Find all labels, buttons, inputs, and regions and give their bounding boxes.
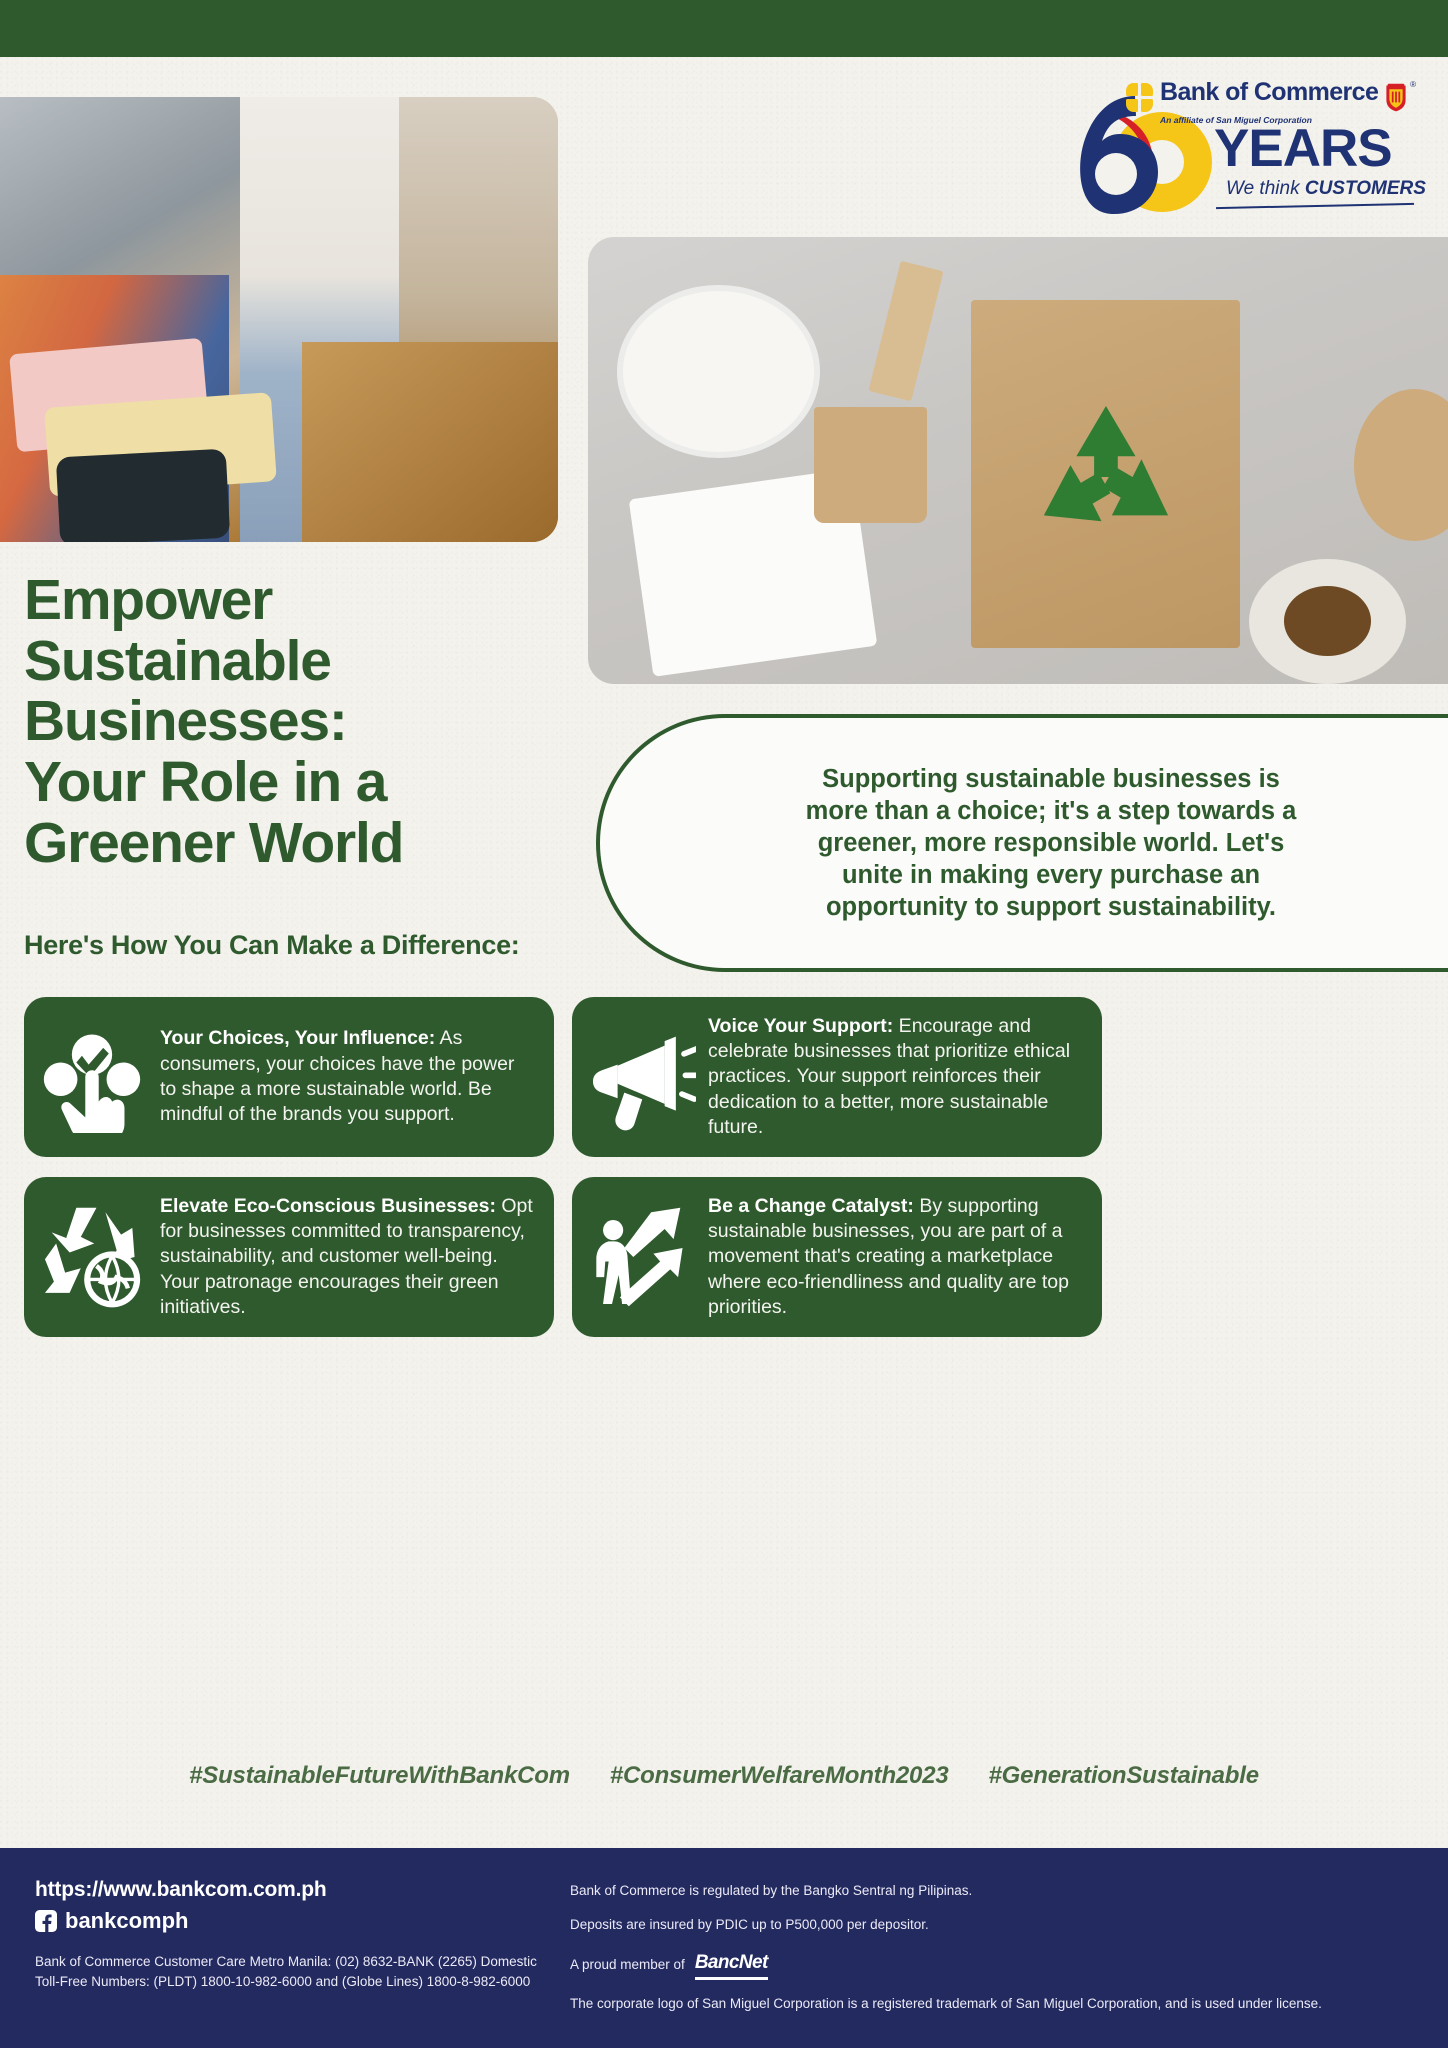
tip-card: Voice Your Support: Encourage and celebr…	[572, 997, 1102, 1157]
bank-name-text: Bank of Commerce	[1160, 80, 1378, 105]
headline-line: Empower	[24, 568, 272, 632]
footer-contact-column: https://www.bankcom.com.ph bankcomph Ban…	[0, 1848, 560, 2048]
footer-legal-column: Bank of Commerce is regulated by the Ban…	[560, 1848, 1448, 2048]
tip-card-title: Elevate Eco-Conscious Businesses:	[160, 1195, 496, 1217]
hashtag-row: #SustainableFutureWithBankCom #ConsumerW…	[0, 1762, 1448, 1790]
subheading: Here's How You Can Make a Difference:	[24, 930, 519, 961]
tip-card-text: Be a Change Catalyst: By supporting sust…	[708, 1194, 1084, 1321]
callout-panel: Supporting sustainable businesses is mor…	[596, 714, 1448, 972]
san-miguel-crest-icon	[1384, 82, 1408, 112]
bancnet-row: A proud member of BancNet	[570, 1950, 1408, 1981]
bank-of-commerce-60-years-logo: Bank of Commerce An affiliate of San Mig…	[1040, 72, 1420, 217]
secondhand-market-photo	[0, 97, 558, 542]
member-label: A proud member of	[570, 1956, 685, 1975]
headline-line: Greener World	[24, 811, 403, 875]
tagline: We think CUSTOMERS	[1226, 178, 1426, 200]
registered-mark: ®	[1410, 80, 1416, 89]
bancnet-logo: BancNet	[695, 1950, 768, 1981]
tip-card-text: Elevate Eco-Conscious Businesses: Opt fo…	[160, 1194, 536, 1321]
tagline-emphasis: CUSTOMERS	[1305, 178, 1426, 199]
tip-card: Elevate Eco-Conscious Businesses: Opt fo…	[24, 1177, 554, 1337]
tip-card-title: Be a Change Catalyst:	[708, 1195, 914, 1217]
recycle-symbol-icon	[1032, 398, 1180, 550]
page-title: Empower Sustainable Businesses: Your Rol…	[24, 570, 584, 874]
recycle-globe-icon	[36, 1201, 148, 1313]
hashtag: #GenerationSustainable	[989, 1762, 1259, 1790]
customer-care-text: Bank of Commerce Customer Care Metro Man…	[35, 1952, 560, 1991]
facebook-icon	[35, 1910, 57, 1932]
facebook-link[interactable]: bankcomph	[35, 1908, 560, 1934]
pdic-note: Deposits are insured by PDIC up to P500,…	[570, 1916, 1408, 1935]
tip-card-title: Your Choices, Your Influence:	[160, 1027, 435, 1049]
callout-text: Supporting sustainable businesses is mor…	[801, 763, 1301, 924]
tip-card-text: Your Choices, Your Influence: As consume…	[160, 1026, 536, 1127]
facebook-handle: bankcomph	[65, 1908, 188, 1934]
person-climbing-arrow-icon	[584, 1201, 696, 1313]
tip-card-text: Voice Your Support: Encourage and celebr…	[708, 1014, 1084, 1141]
tip-card-title: Voice Your Support:	[708, 1015, 893, 1037]
tip-card: Be a Change Catalyst: By supporting sust…	[572, 1177, 1102, 1337]
choice-hand-icon	[36, 1021, 148, 1133]
years-label: YEARS	[1214, 122, 1392, 175]
headline-line: Businesses:	[24, 689, 347, 753]
tagline-prefix: We think	[1226, 178, 1305, 199]
regulator-note: Bank of Commerce is regulated by the Ban…	[570, 1882, 1408, 1901]
hashtag: #ConsumerWelfareMonth2023	[610, 1762, 949, 1790]
tip-card: Your Choices, Your Influence: As consume…	[24, 997, 554, 1157]
website-link[interactable]: https://www.bankcom.com.ph	[35, 1878, 560, 1902]
poster-root: Bank of Commerce An affiliate of San Mig…	[0, 0, 1448, 2048]
hashtag: #SustainableFutureWithBankCom	[189, 1762, 570, 1790]
headline-line: Your Role in a	[24, 750, 386, 814]
eco-packaging-photo	[588, 237, 1448, 684]
top-accent-bar	[0, 0, 1448, 57]
tagline-underline	[1216, 203, 1414, 209]
trademark-note: The corporate logo of San Miguel Corpora…	[570, 1995, 1408, 2013]
megaphone-icon	[584, 1021, 696, 1133]
tips-grid: Your Choices, Your Influence: As consume…	[24, 997, 1424, 1337]
bankcom-petal-mark-icon	[1126, 83, 1153, 112]
footer: https://www.bankcom.com.ph bankcomph Ban…	[0, 1848, 1448, 2048]
headline-line: Sustainable	[24, 629, 331, 693]
